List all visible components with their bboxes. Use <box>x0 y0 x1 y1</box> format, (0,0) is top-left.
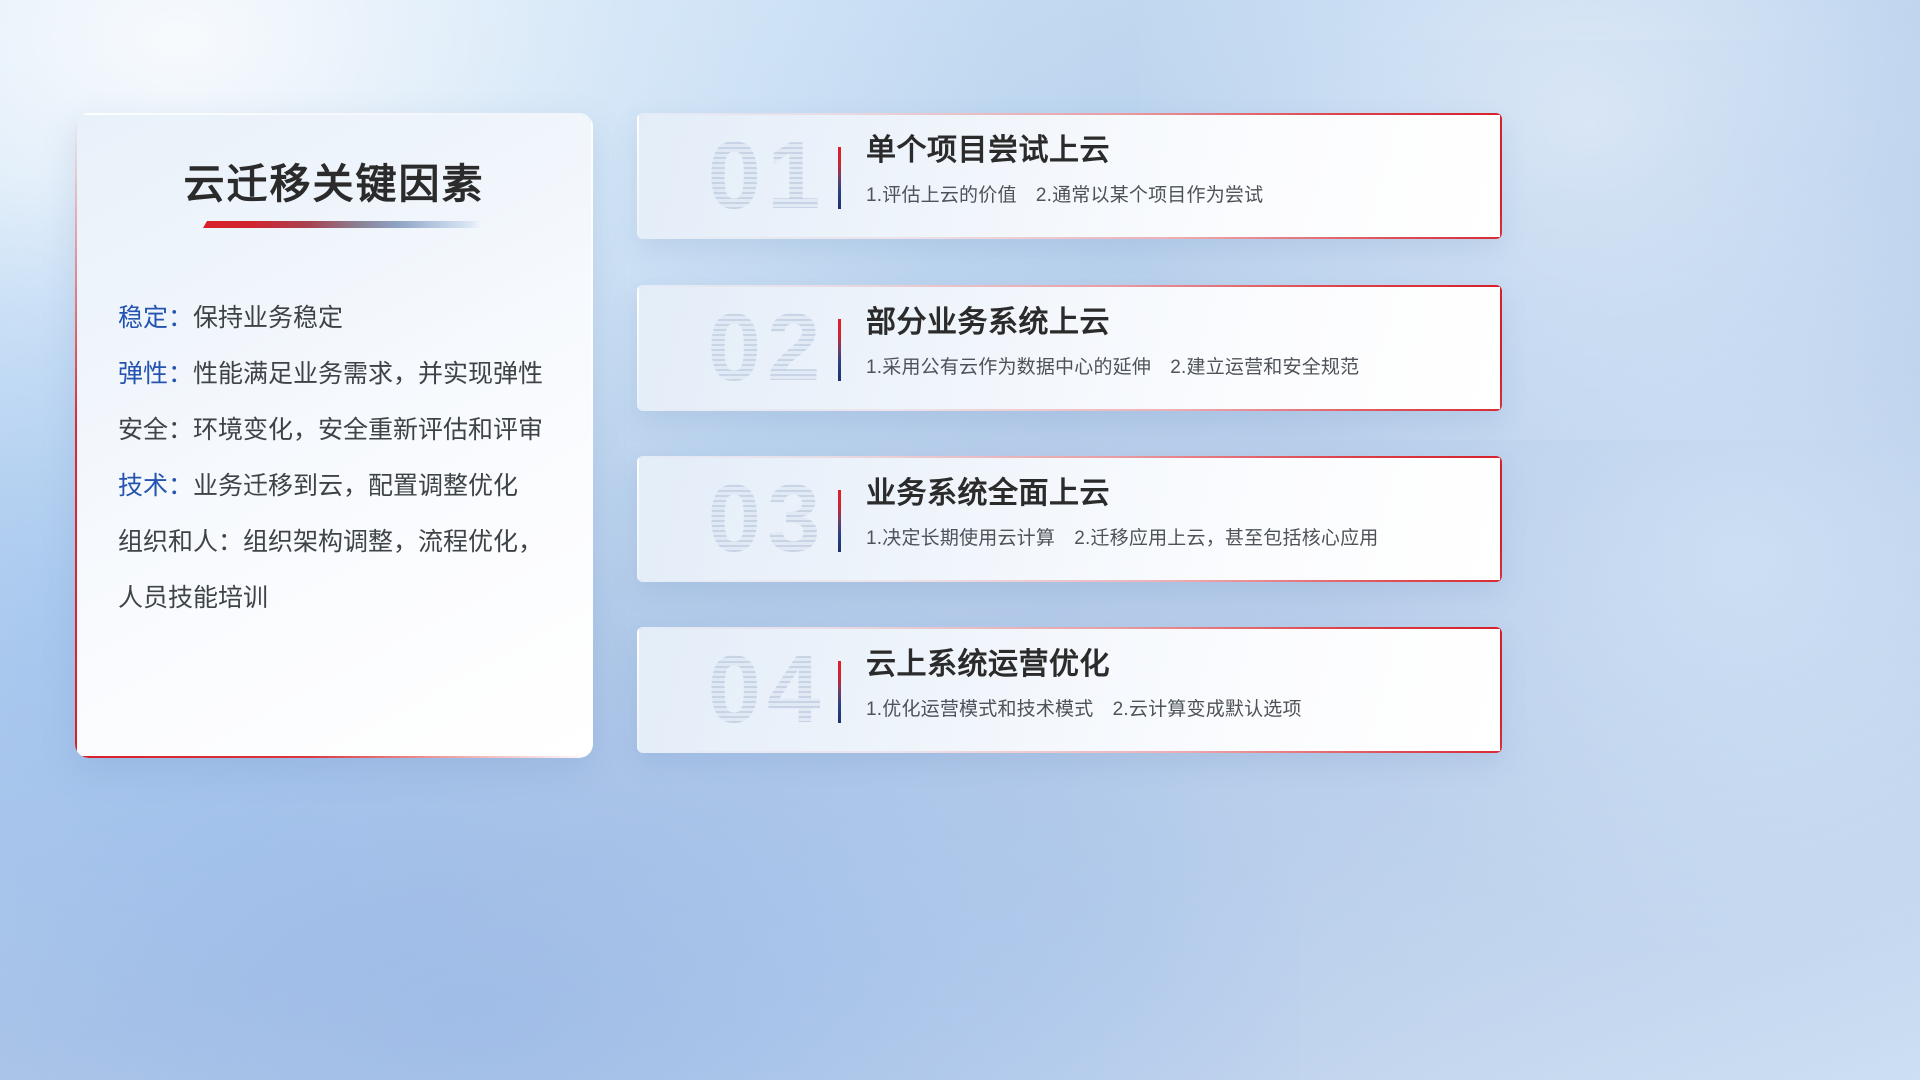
factor-label: 技术： <box>118 472 193 500</box>
list-item: 稳定：保持业务稳定 <box>118 306 563 331</box>
factor-label: 组织和人： <box>118 528 243 556</box>
card-left-highlight <box>637 456 639 582</box>
key-factors-panel: 云迁移关键因素 稳定：保持业务稳定 弹性：性能满足业务需求，并实现弹性 安全：环… <box>75 113 593 758</box>
step-body: 单个项目尝试上云 1.评估上云的价值 2.通常以某个项目作为尝试 <box>866 132 1474 208</box>
factor-text: 保持业务稳定 <box>193 304 343 332</box>
factor-text: 性能满足业务需求，并实现弹性 <box>193 360 543 388</box>
factor-label: 安全： <box>118 416 193 444</box>
step-divider-bar <box>838 490 841 552</box>
factor-text: 业务迁移到云，配置调整优化 <box>193 472 518 500</box>
card-right-accent <box>1500 113 1502 239</box>
step-card-01[interactable]: 01 01 单个项目尝试上云 1.评估上云的价值 2.通常以某个项目作为尝试 <box>637 113 1502 239</box>
card-top-accent <box>637 456 1502 458</box>
card-right-accent <box>1500 285 1502 411</box>
step-body: 业务系统全面上云 1.决定长期使用云计算 2.迁移应用上云，甚至包括核心应用 <box>866 475 1474 551</box>
step-description: 1.评估上云的价值 2.通常以某个项目作为尝试 <box>866 184 1474 209</box>
step-divider-bar <box>838 147 841 209</box>
card-left-highlight <box>637 627 639 753</box>
list-item: 组织和人：组织架构调整，流程优化， <box>118 530 563 555</box>
list-item: 人员技能培训 <box>118 586 563 611</box>
card-bottom-accent <box>637 409 1502 411</box>
factor-label: 稳定： <box>118 304 193 332</box>
step-body: 云上系统运营优化 1.优化运营模式和技术模式 2.云计算变成默认选项 <box>866 646 1474 722</box>
step-title: 部分业务系统上云 <box>866 304 1474 342</box>
step-title: 云上系统运营优化 <box>866 646 1474 684</box>
step-description: 1.决定长期使用云计算 2.迁移应用上云，甚至包括核心应用 <box>866 527 1474 552</box>
step-body: 部分业务系统上云 1.采用公有云作为数据中心的延伸 2.建立运营和安全规范 <box>866 304 1474 380</box>
card-top-accent <box>637 113 1502 115</box>
list-item: 弹性：性能满足业务需求，并实现弹性 <box>118 362 563 387</box>
card-left-highlight <box>637 285 639 411</box>
card-bottom-accent <box>637 580 1502 582</box>
step-description: 1.采用公有云作为数据中心的延伸 2.建立运营和安全规范 <box>866 356 1474 381</box>
step-card-04[interactable]: 04 04 云上系统运营优化 1.优化运营模式和技术模式 2.云计算变成默认选项 <box>637 627 1502 753</box>
step-card-02[interactable]: 02 02 部分业务系统上云 1.采用公有云作为数据中心的延伸 2.建立运营和安… <box>637 285 1502 411</box>
factor-text: 环境变化，安全重新评估和评审 <box>193 416 543 444</box>
step-title: 单个项目尝试上云 <box>866 132 1474 170</box>
card-left-highlight <box>637 113 639 239</box>
step-divider-bar <box>838 661 841 723</box>
factor-text: 人员技能培训 <box>118 584 268 612</box>
key-factors-list: 稳定：保持业务稳定 弹性：性能满足业务需求，并实现弹性 安全：环境变化，安全重新… <box>118 306 563 611</box>
list-item: 安全：环境变化，安全重新评估和评审 <box>118 418 563 443</box>
card-top-accent <box>637 285 1502 287</box>
list-item: 技术：业务迁移到云，配置调整优化 <box>118 474 563 499</box>
card-right-accent <box>1500 627 1502 753</box>
card-bottom-accent <box>637 237 1502 239</box>
card-top-accent <box>637 627 1502 629</box>
panel-top-highlight <box>75 113 593 115</box>
factor-text: 组织架构调整，流程优化， <box>243 528 543 556</box>
card-right-accent <box>1500 456 1502 582</box>
step-card-03[interactable]: 03 03 业务系统全面上云 1.决定长期使用云计算 2.迁移应用上云，甚至包括… <box>637 456 1502 582</box>
factor-label: 弹性： <box>118 360 193 388</box>
page-title: 云迁移关键因素 <box>75 150 593 210</box>
step-title: 业务系统全面上云 <box>866 475 1474 513</box>
card-bottom-accent <box>637 751 1502 753</box>
title-underline-accent <box>203 221 481 228</box>
step-divider-bar <box>838 319 841 381</box>
slide-stage: 云迁移关键因素 稳定：保持业务稳定 弹性：性能满足业务需求，并实现弹性 安全：环… <box>0 0 1920 1080</box>
step-description: 1.优化运营模式和技术模式 2.云计算变成默认选项 <box>866 698 1474 723</box>
